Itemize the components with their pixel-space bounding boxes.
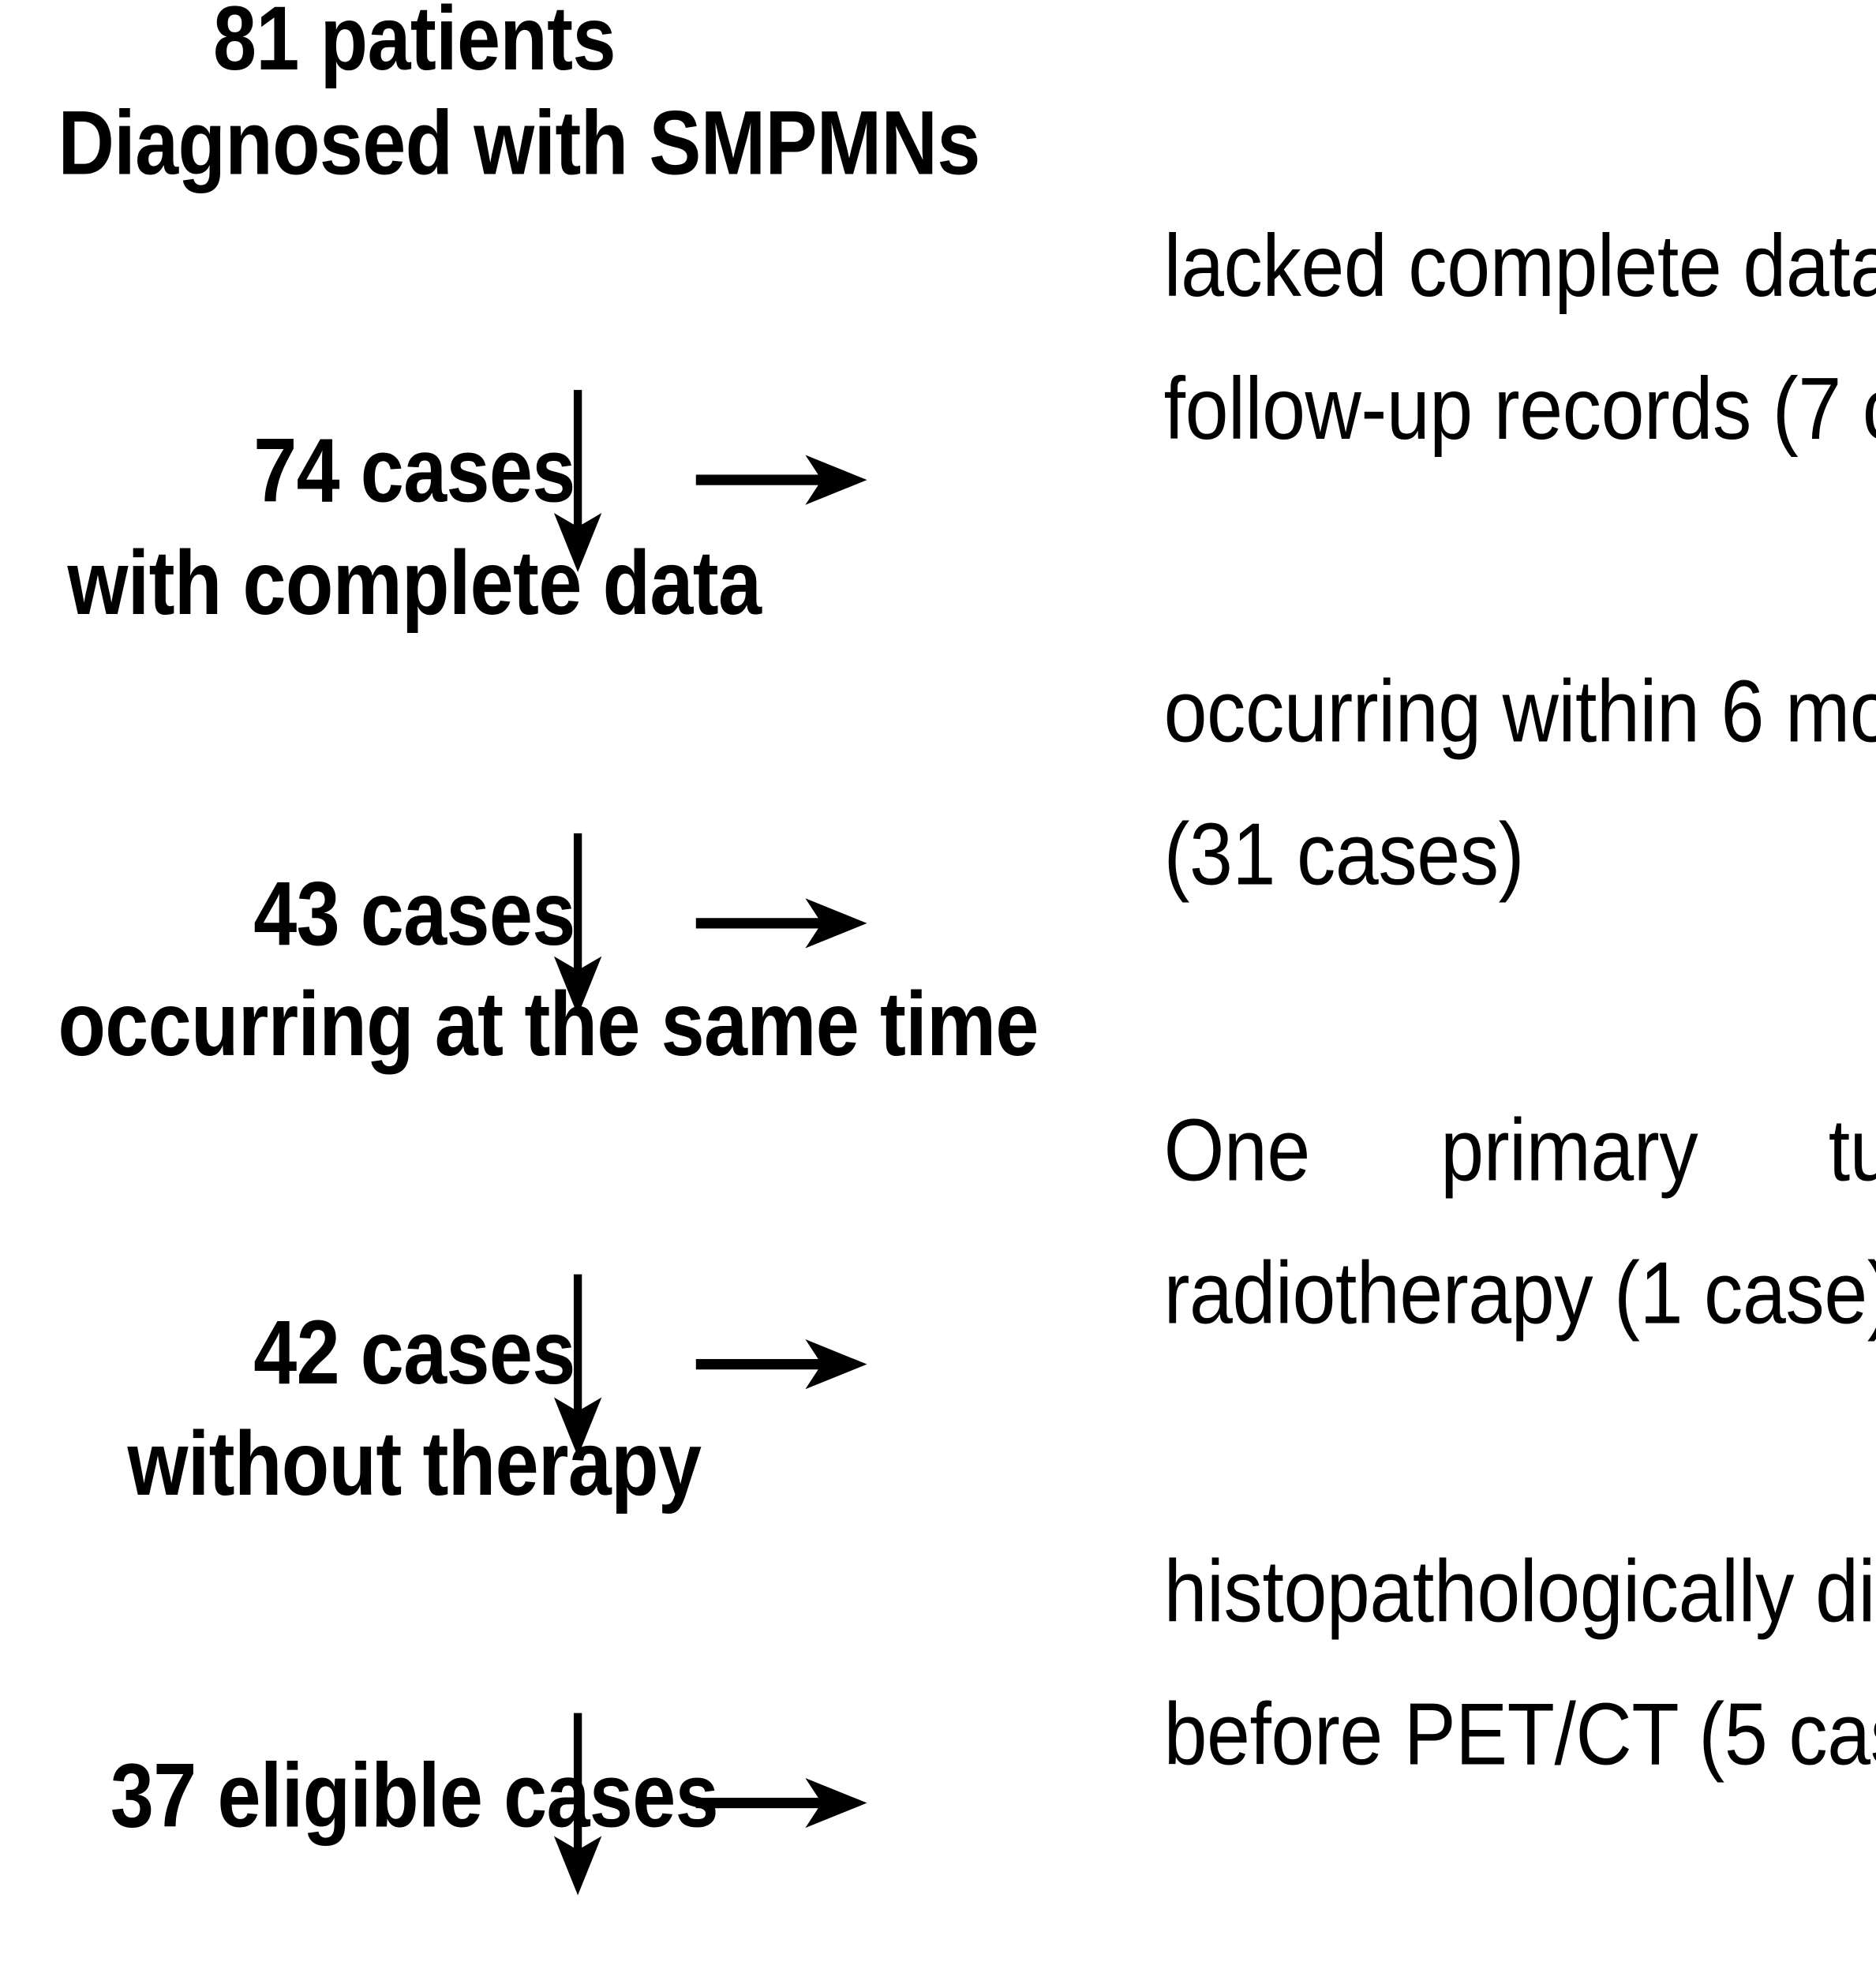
node-3-line1: 43 cases	[253, 863, 575, 964]
exclusion-3-line1: One primary tumor undergone	[1164, 1080, 1876, 1222]
node-4-description-label: without therapy	[58, 1418, 770, 1509]
node-1-line1: 81 patients	[213, 0, 616, 89]
exclusion-1: lacked complete data or follow-up record…	[1164, 195, 1876, 481]
node-2-line1: 74 cases	[253, 419, 575, 521]
exclusion-2: occurring within 6 months (31 cases)	[1164, 641, 1876, 927]
exclusion-2-line1: occurring within 6 months	[1164, 641, 1876, 784]
node-2-line2: with complete data	[67, 532, 761, 634]
node-4-line1: 42 cases	[253, 1301, 575, 1403]
exclusion-4: histopathologically diagnosed before PET…	[1164, 1520, 1876, 1806]
exclusion-2-line2: (31 cases)	[1164, 784, 1876, 927]
node-5-line1: 37 eligible cases	[110, 1744, 718, 1846]
exclusion-3: One primary tumor undergone radiotherapy…	[1164, 1080, 1876, 1365]
node-3-line2: occurring at the same time	[58, 972, 1038, 1074]
exclusion-4-line2: before PET/CT (5 cases)	[1164, 1664, 1876, 1806]
node-2-description-label: with complete data	[58, 537, 770, 628]
node-5-count-label: 37 eligible cases	[58, 1750, 770, 1841]
exclusion-3-line2: radiotherapy (1 case)	[1164, 1222, 1876, 1365]
patient-selection-flowchart: 81 patients Diagnosed with SMPMNs lacked…	[0, 0, 1876, 1973]
node-1-description-label: Diagnosed with SMPMNs	[58, 98, 770, 189]
exclusion-1-line2: follow-up records (7 cases)	[1164, 338, 1876, 481]
node-4-count-label: 42 cases	[58, 1307, 770, 1398]
node-4-line2: without therapy	[128, 1413, 702, 1514]
node-1-line2: Diagnosed with SMPMNs	[58, 92, 979, 193]
exclusion-1-line1: lacked complete data or	[1164, 195, 1876, 338]
node-2-count-label: 74 cases	[58, 425, 770, 515]
exclusion-4-line1: histopathologically diagnosed	[1164, 1520, 1876, 1663]
node-1-count-label: 81 patients	[58, 0, 770, 84]
node-3-count-label: 43 cases	[58, 868, 770, 959]
node-3-description-label: occurring at the same time	[58, 979, 770, 1069]
